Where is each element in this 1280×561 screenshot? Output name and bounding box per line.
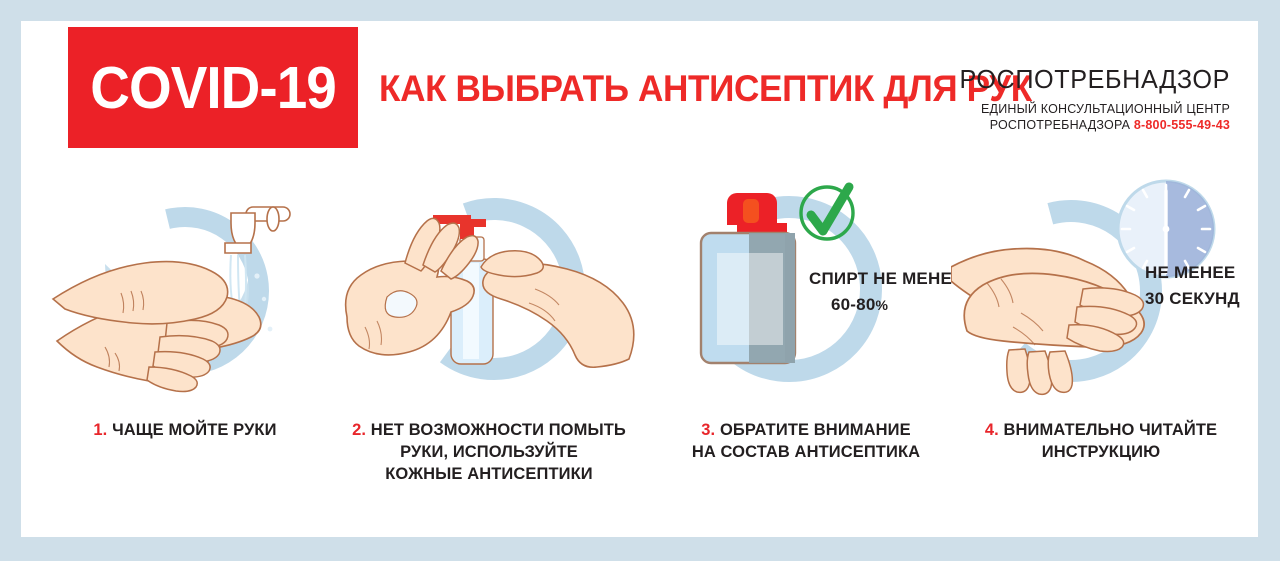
panels-row: 1. ЧАЩЕ МОЙТЕ РУКИ bbox=[21, 171, 1258, 531]
panel-2-caption-line-3: КОЖНЫЕ АНТИСЕПТИКИ bbox=[329, 463, 649, 485]
panel-2-caption: 2. НЕТ ВОЗМОЖНОСТИ ПОМЫТЬ РУКИ, ИСПОЛЬЗУ… bbox=[329, 419, 649, 485]
panel-4-caption-row-1: 4. ВНИМАТЕЛЬНО ЧИТАЙТЕ bbox=[951, 419, 1251, 441]
panel-3-caption-line-1: ОБРАТИТЕ ВНИМАНИЕ bbox=[720, 421, 911, 439]
illustration-sanitizer-bottle-with-green-check: СПИРТ НЕ МЕНЕЕ 60-80% bbox=[661, 171, 951, 406]
illustration-hands-rubbing-with-clock: НЕ МЕНЕЕ 30 СЕКУНД bbox=[951, 171, 1251, 406]
panel-wash-hands: 1. ЧАЩЕ МОЙТЕ РУКИ bbox=[35, 171, 335, 531]
duration-label: НЕ МЕНЕЕ bbox=[1145, 263, 1235, 283]
panel-2-caption-line-1: НЕТ ВОЗМОЖНОСТИ ПОМЫТЬ bbox=[371, 421, 626, 439]
illustration-hands-washing-under-faucet bbox=[35, 171, 335, 406]
panel-2-number: 2. bbox=[352, 421, 366, 439]
panel-2-caption-line-2: РУКИ, ИСПОЛЬЗУЙТЕ bbox=[329, 441, 649, 463]
panel-4-caption-line-2: ИНСТРУКЦИЮ bbox=[951, 441, 1251, 463]
panel-check-composition: СПИРТ НЕ МЕНЕЕ 60-80% 3. ОБРАТИТЕ ВНИМАН… bbox=[661, 171, 951, 531]
panel-1-caption-line-1: ЧАЩЕ МОЙТЕ РУКИ bbox=[112, 421, 277, 439]
organization-name: РОСПОТРЕБНАДЗОР bbox=[900, 64, 1230, 95]
panel-4-number: 4. bbox=[985, 421, 999, 439]
panel-3-caption: 3. ОБРАТИТЕ ВНИМАНИЕ НА СОСТАВ АНТИСЕПТИ… bbox=[661, 419, 951, 463]
consultation-center-org: РОСПОТРЕБНАДЗОРА bbox=[990, 118, 1130, 132]
alcohol-percent-value: 60-80% bbox=[831, 295, 888, 315]
panel-3-caption-row-1: 3. ОБРАТИТЕ ВНИМАНИЕ bbox=[661, 419, 951, 441]
panel-1-caption: 1. ЧАЩЕ МОЙТЕ РУКИ bbox=[35, 419, 335, 441]
panel-1-number: 1. bbox=[93, 421, 107, 439]
hotline-phone: 8-800-555-49-43 bbox=[1134, 118, 1230, 132]
rospotrebnadzor-block: РОСПОТРЕБНАДЗОР ЕДИНЫЙ КОНСУЛЬТАЦИОННЫЙ … bbox=[890, 64, 1230, 132]
panel-4-caption-line-1: ВНИМАТЕЛЬНО ЧИТАЙТЕ bbox=[1004, 421, 1218, 439]
duration-unit: СЕКУНД bbox=[1169, 289, 1240, 308]
poster-header: COVID-19 КАК ВЫБРАТЬ АНТИСЕПТИК ДЛЯ РУК … bbox=[21, 21, 1258, 153]
consultation-center-line1: ЕДИНЫЙ КОНСУЛЬТАЦИОННЫЙ ЦЕНТР bbox=[890, 102, 1230, 116]
covid-badge: COVID-19 bbox=[68, 27, 358, 148]
consultation-center-line2: РОСПОТРЕБНАДЗОРА 8-800-555-49-43 bbox=[890, 118, 1230, 132]
duration-number: 30 bbox=[1145, 289, 1164, 308]
panel-3-number: 3. bbox=[701, 421, 715, 439]
duration-value: 30 СЕКУНД bbox=[1145, 289, 1240, 309]
alcohol-percent-number: 60-80 bbox=[831, 295, 875, 314]
panel-use-sanitizer: 2. НЕТ ВОЗМОЖНОСТИ ПОМЫТЬ РУКИ, ИСПОЛЬЗУ… bbox=[329, 171, 649, 531]
illustration-hands-with-sanitizer-pump-bottle bbox=[329, 171, 649, 406]
panel-3-caption-line-2: НА СОСТАВ АНТИСЕПТИКА bbox=[661, 441, 951, 463]
alcohol-requirement-label: СПИРТ НЕ МЕНЕЕ bbox=[809, 269, 964, 289]
covid-badge-label: COVID-19 bbox=[90, 54, 336, 122]
panel-2-caption-row-1: 2. НЕТ ВОЗМОЖНОСТИ ПОМЫТЬ bbox=[329, 419, 649, 441]
panel-read-instructions: НЕ МЕНЕЕ 30 СЕКУНД 4. ВНИМАТЕЛЬНО ЧИТАЙТ… bbox=[951, 171, 1251, 531]
poster-card: COVID-19 КАК ВЫБРАТЬ АНТИСЕПТИК ДЛЯ РУК … bbox=[21, 21, 1258, 537]
alcohol-percent-unit: % bbox=[875, 297, 888, 313]
panel-4-caption: 4. ВНИМАТЕЛЬНО ЧИТАЙТЕ ИНСТРУКЦИЮ bbox=[951, 419, 1251, 463]
